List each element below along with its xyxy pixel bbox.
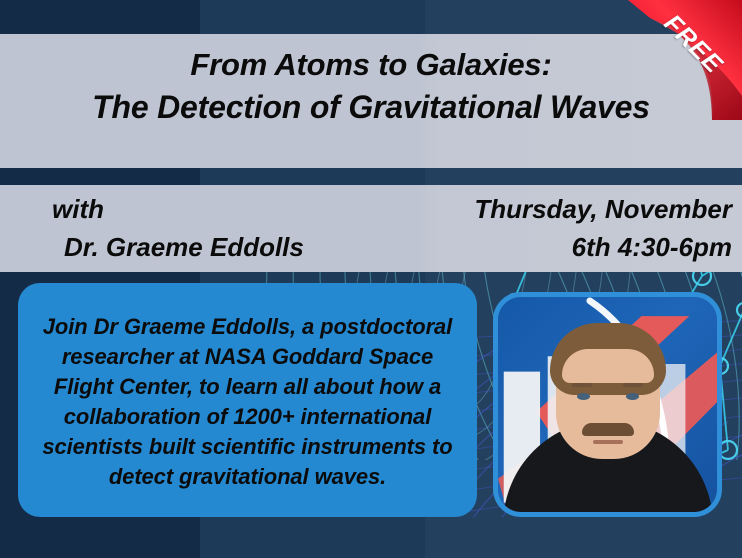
subject-eyebrow-right — [623, 383, 643, 387]
subject-eye-left — [577, 393, 590, 400]
bottom-navy-band — [0, 517, 742, 558]
date-line-2: 6th 4:30-6pm — [474, 228, 732, 266]
date-line-1: Thursday, November — [474, 190, 732, 228]
free-ribbon: FREE — [620, 0, 742, 120]
with-label: with — [52, 190, 304, 228]
speaker-info: with Dr. Graeme Eddolls — [52, 190, 304, 266]
subject-eye-right — [626, 393, 639, 400]
description-text: Join Dr Graeme Eddolls, a postdoctoral r… — [34, 312, 461, 492]
speaker-photo-frame — [493, 292, 722, 517]
description-panel: Join Dr Graeme Eddolls, a postdoctoral r… — [18, 283, 477, 517]
subject-hair — [550, 323, 666, 395]
subject-eyebrow-left — [572, 383, 592, 387]
event-poster: From Atoms to Galaxies: The Detection of… — [0, 0, 742, 558]
speaker-name: Dr. Graeme Eddolls — [52, 228, 304, 266]
subject-mouth — [593, 440, 623, 444]
speaker-photo — [498, 297, 717, 512]
divider-navy-band — [0, 168, 742, 185]
event-datetime: Thursday, November 6th 4:30-6pm — [474, 190, 732, 266]
subject-moustache — [582, 423, 634, 436]
